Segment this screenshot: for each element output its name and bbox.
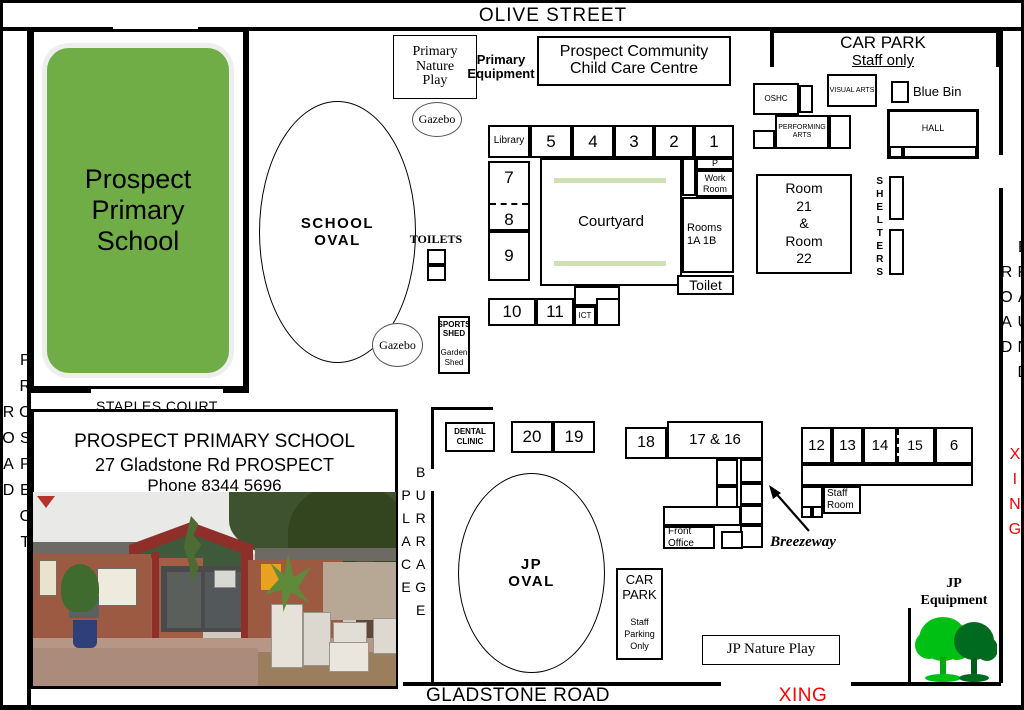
classroom-top-row-5: 5 — [530, 125, 572, 158]
burrage-bracket-top — [431, 407, 493, 410]
office-wing-right-4 — [740, 525, 763, 548]
primary-equipment-label: Primary Equipment — [461, 47, 541, 87]
room-label-18: 18 — [637, 435, 655, 452]
staff-room-annex-small-2 — [812, 506, 823, 518]
burrage-place-line-bottom — [431, 491, 434, 683]
office-wing-right-1 — [740, 459, 763, 483]
room-21-22-box: Room 21 & Room 22 — [756, 174, 852, 274]
gazebo-bottom-label: Gazebo — [379, 338, 416, 353]
room-label-3: 3 — [629, 133, 638, 151]
courtyard-label: Courtyard — [578, 214, 644, 230]
oshc-annex-box — [799, 85, 813, 113]
jp-oval-label-line2: OVAL — [508, 573, 555, 590]
pe-line2: Equipment — [467, 67, 534, 81]
ccc-line2: Child Care Centre — [560, 61, 709, 78]
school-name-text: Prospect Primary School — [53, 164, 223, 257]
carpark-bracket-left — [770, 29, 774, 67]
room-label-12: 12 — [808, 438, 825, 454]
room-label-17-16: 17 & 16 — [689, 432, 741, 448]
front-office-line2: Office — [668, 538, 694, 550]
blue-bin-box — [891, 81, 909, 103]
front-office-annex — [721, 531, 743, 549]
office-wing-right-2 — [740, 483, 763, 505]
corridor-segment — [682, 158, 696, 196]
classroom-top-row-3: 3 — [614, 125, 654, 158]
room-label-ict: ICT — [579, 312, 592, 320]
road-label-braund-xing: XING — [1003, 443, 1024, 548]
room-label-6: 6 — [950, 438, 958, 454]
shelter-box-upper — [889, 176, 904, 220]
room-15-box: 15 — [897, 427, 935, 464]
room21-line2: 21 — [785, 198, 822, 216]
photo-post-right — [241, 554, 248, 638]
front-office-box: Front Office — [663, 526, 715, 549]
garden-shed-line1: Garden — [441, 348, 468, 358]
room-label-20: 20 — [523, 428, 542, 446]
room21-line4: Room — [785, 233, 822, 251]
room-label-4: 4 — [588, 133, 597, 151]
room-18-box: 18 — [625, 427, 667, 459]
work-room-box: Work Room — [696, 170, 734, 197]
courtyard-green-strip-top — [554, 178, 666, 183]
shelter-box-lower — [889, 229, 904, 275]
breezeway-label: Breezeway — [761, 533, 845, 553]
photo-mosaic-cube-3 — [373, 618, 396, 654]
p-room-box: P — [696, 158, 734, 170]
room-14-15-divider — [897, 429, 899, 462]
road-label-burrage-place: BURRAGE PLACE — [403, 428, 423, 660]
south-car-park-subtitle: Staff Parking Only — [616, 613, 663, 655]
road-label-prospect-road: PROSPECT ROAD — [6, 321, 26, 591]
road-label-olive-street: OLIVE STREET — [423, 5, 683, 27]
performing-arts-line2: ARTS — [778, 132, 825, 140]
classroom-top-row-2: 2 — [654, 125, 694, 158]
site-map: OLIVE STREET PROSPECT ROAD BRAUND ROAD X… — [0, 0, 1024, 710]
pnp-line1: Primary — [412, 45, 457, 60]
classroom-top-row-library: Library — [488, 125, 530, 158]
classroom-top-row-1: 1 — [694, 125, 734, 158]
oshc-box: OSHC — [753, 83, 799, 115]
rooms-1a1b-line1: Rooms — [687, 222, 722, 235]
road-label-gladstone-xing: XING — [758, 685, 848, 707]
jp-equipment-line1: JP — [921, 575, 988, 593]
room-label-10: 10 — [503, 303, 522, 321]
dental-clinic-line1: DENTAL — [454, 427, 486, 437]
classroom-bottom-row-ict: ICT — [574, 306, 596, 326]
gazebo-bottom: Gazebo — [372, 323, 423, 367]
school-front-entrance-photo — [33, 492, 396, 686]
photo-noticeboard-1 — [39, 560, 57, 596]
rooms-right-lower-wing — [801, 464, 973, 486]
staples-court-line-left — [31, 389, 91, 393]
photo-mosaic-cube-2 — [329, 642, 369, 672]
toilets-text: TOILETS — [407, 231, 465, 247]
room-12-box: 12 — [801, 427, 832, 464]
room-14-box: 14 — [863, 427, 897, 464]
jp-nature-play-label: JP Nature Play — [727, 642, 816, 658]
room-label-11: 11 — [546, 303, 564, 321]
staff-parking-line1: Staff — [624, 616, 655, 628]
staff-room-line1: Staff — [827, 488, 854, 500]
photo-brick-far-right — [323, 562, 396, 620]
school-oval-label-line1: SCHOOL — [301, 215, 374, 232]
office-wing-vertical-1 — [716, 459, 738, 486]
room21-line5: 22 — [785, 250, 822, 268]
photo-noticeboard-2 — [97, 568, 137, 606]
rooms-1a1b-box: Rooms 1A 1B — [682, 197, 734, 273]
south-carpark-line1: CAR — [622, 573, 656, 588]
carpark-bracket-right — [996, 29, 1000, 67]
room-label-15: 15 — [907, 438, 923, 453]
south-car-park-title: CAR PARK — [616, 571, 663, 605]
staff-room-box: Staff Room — [823, 486, 861, 514]
staff-parking-line3: Only — [624, 640, 655, 652]
jp-oval: JP OVAL — [458, 473, 605, 673]
garden-shed-line2: Shed — [441, 358, 468, 368]
blue-bin-label: Blue Bin — [913, 82, 979, 102]
performing-arts-line1: PERFORMING — [778, 124, 825, 132]
pe-line1: Primary — [467, 53, 534, 67]
staff-parking-line2: Parking — [624, 628, 655, 640]
classroom-bottom-row-10: 10 — [488, 298, 536, 326]
office-corridor — [663, 506, 741, 526]
toilets-block-upper — [427, 249, 446, 265]
photo-mosaic-planter-1 — [271, 604, 303, 668]
staples-court-line-right — [223, 389, 249, 393]
office-wing-right-3 — [740, 505, 763, 525]
sports-shed-line2: SHED — [438, 330, 471, 339]
classroom-bottom-row-11: 11 — [536, 298, 574, 326]
room-label-2: 2 — [669, 133, 678, 151]
gazebo-top-label: Gazebo — [419, 112, 456, 127]
jp-oval-label-line1: JP — [508, 556, 555, 573]
room-label-7: 7 — [504, 169, 513, 187]
performing-arts-annex-right — [829, 115, 851, 149]
jp-equipment-line2: Equipment — [921, 592, 988, 610]
carpark-top-subtitle: Staff only — [803, 51, 963, 71]
courtyard-green-strip-bottom — [554, 261, 666, 266]
sports-shed-label: SPORTS SHED — [435, 319, 473, 341]
ccc-line1: Prospect Community — [560, 44, 709, 61]
room21-line1: Room — [785, 180, 822, 198]
shelters-label: SHELTERS — [872, 178, 886, 278]
photo-painted-pot — [73, 620, 97, 648]
child-care-centre-box: Prospect Community Child Care Centre — [537, 36, 731, 86]
jp-nature-play-box: JP Nature Play — [702, 635, 840, 665]
work-room-line2: Room — [703, 184, 727, 194]
office-wing-vertical-2 — [716, 486, 738, 508]
dental-clinic-line2: CLINIC — [454, 437, 486, 447]
photo-entry-glass-pane — [167, 572, 201, 628]
front-office-line1: Front — [668, 526, 694, 538]
toilet-label: Toilet — [689, 278, 722, 293]
pnp-line2: Nature — [412, 60, 457, 75]
room-label-library: Library — [494, 136, 525, 147]
room-13-box: 13 — [832, 427, 863, 464]
oshc-label: OSHC — [764, 95, 787, 103]
room-label-p: P — [712, 159, 718, 168]
room-label-8-wrap: 8 — [488, 210, 530, 230]
hall-label: HALL — [922, 124, 945, 133]
photo-paving-path — [33, 648, 258, 686]
photo-post-left — [152, 552, 159, 642]
classroom-7-8-divider — [490, 203, 528, 205]
divider-vertical-left-zone — [246, 29, 249, 389]
lower-right-bracket — [908, 608, 911, 684]
room-label-5: 5 — [546, 133, 555, 151]
toilet-box: Toilet — [677, 275, 734, 295]
room-20-box: 20 — [511, 421, 553, 453]
road-label-braund-road: BRAUND ROAD — [1003, 189, 1024, 439]
room-19-box: 19 — [553, 421, 595, 453]
classroom-bottom-annex-lower — [596, 298, 620, 326]
photo-aircon — [214, 570, 236, 588]
dental-clinic-box: DENTAL CLINIC — [445, 422, 495, 452]
performing-arts-annex-left — [753, 130, 775, 149]
staff-room-annex-small-1 — [801, 506, 812, 518]
garden-shed-label: Garden Shed — [435, 347, 473, 369]
hall-annex-right — [903, 146, 977, 158]
staff-room-line2: Room — [827, 500, 854, 512]
school-oval-label-line2: OVAL — [301, 232, 374, 249]
visual-arts-label: VISUAL ARTS — [830, 87, 875, 94]
room21-line3: & — [785, 215, 822, 233]
room-label-19: 19 — [565, 428, 584, 446]
room-label-1: 1 — [709, 133, 718, 151]
room-label-8: 8 — [504, 211, 513, 229]
toilets-block-lower — [427, 265, 446, 281]
road-label-gladstone-road: GLADSTONE ROAD — [408, 685, 628, 707]
pnp-line3: Play — [412, 74, 457, 89]
gazebo-top: Gazebo — [412, 102, 462, 137]
room-label-9: 9 — [504, 247, 513, 265]
south-carpark-line2: PARK — [622, 588, 656, 603]
room-label-14: 14 — [872, 438, 889, 454]
room-label-13: 13 — [839, 438, 856, 454]
photo-mosaic-planter-2 — [303, 612, 331, 666]
trees-icon — [911, 611, 997, 683]
classroom-left-col-9: 9 — [488, 231, 530, 281]
room-6-box: 6 — [935, 427, 973, 464]
school-name-label: Prospect Primary School — [47, 48, 229, 373]
hall-annex-left — [889, 146, 903, 158]
work-room-line1: Work — [703, 173, 727, 183]
jp-equipment-label: JP Equipment — [909, 575, 999, 609]
classroom-top-row-4: 4 — [572, 125, 614, 158]
info-panel-line1: PROSPECT PRIMARY SCHOOL — [37, 430, 392, 454]
rooms-17-16-box: 17 & 16 — [667, 421, 763, 459]
visual-arts-box: VISUAL ARTS — [827, 74, 877, 107]
rooms-1a1b-line2: 1A 1B — [687, 235, 722, 248]
photo-shrub — [61, 564, 99, 612]
performing-arts-box: PERFORMING ARTS — [775, 115, 829, 149]
carpark-top-title: CAR PARK — [793, 33, 973, 53]
burrage-place-line-top — [431, 407, 434, 469]
